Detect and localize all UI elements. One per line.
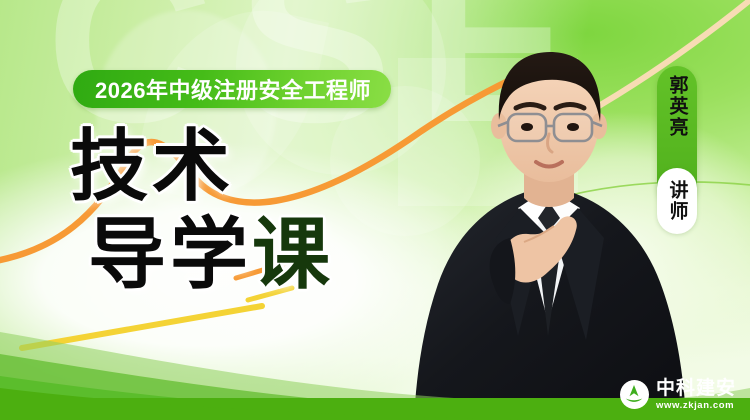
brand-url: www.zkjan.com [656,401,736,411]
brand-logo: 中科建安 www.zkjan.com [620,379,736,411]
headline-line-1: 技术 [70,128,430,204]
instructor-name-badge: 郭英亮 讲师 [657,66,697,206]
instructor-role-chip: 讲师 [657,168,697,234]
instructor-name: 郭英亮 [668,75,687,138]
course-tag-pill: 2026年中级注册安全工程师 [73,70,391,108]
course-poster: CSE [0,0,750,420]
poster-headline: 技术 导学课 [70,128,430,293]
instructor-role: 讲师 [668,180,687,222]
brand-name: 中科建安 [656,379,736,398]
brand-mark-icon [620,380,649,409]
course-tag-label: 2026年中级注册安全工程师 [95,73,371,105]
brand-texts: 中科建安 www.zkjan.com [656,379,736,411]
